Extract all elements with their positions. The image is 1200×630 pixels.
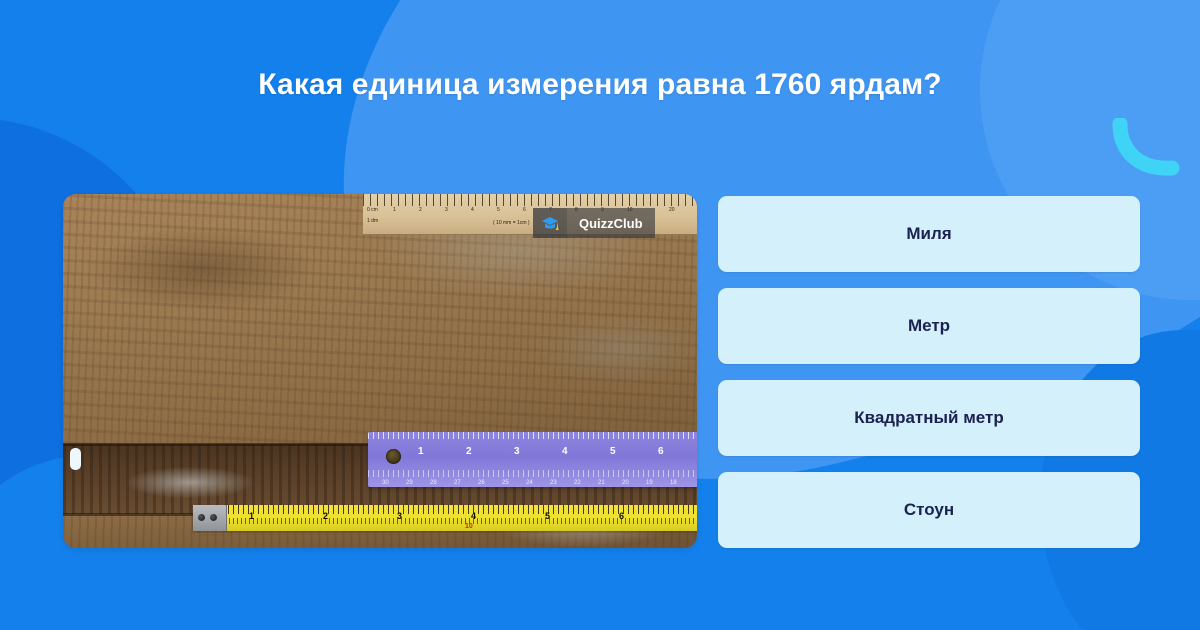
ruler-number-lower: 23 bbox=[550, 480, 557, 486]
answer-option-label: Миля bbox=[906, 224, 951, 244]
ruler-side-label: 1 dm bbox=[367, 218, 378, 224]
ruler-number-lower: 27 bbox=[454, 480, 461, 486]
purple-plastic-ruler: 1 2 3 4 5 6 30 29 28 27 26 25 24 23 22 2… bbox=[368, 432, 697, 487]
ruler-label: 1 bbox=[393, 207, 396, 213]
tape-number: 4 bbox=[471, 511, 476, 521]
watermark-badge: QuizzClub bbox=[533, 208, 655, 238]
ruler-ticks bbox=[368, 432, 697, 439]
ruler-number-lower: 20 bbox=[622, 480, 629, 486]
ruler-number-lower: 26 bbox=[478, 480, 485, 486]
tape-number: 6 bbox=[619, 511, 624, 521]
answer-option-label: Метр bbox=[908, 316, 950, 336]
tape-red-number: 10 bbox=[465, 523, 473, 530]
ruler-label: 5 bbox=[497, 207, 500, 213]
ruler-number-lower: 22 bbox=[574, 480, 581, 486]
yellow-tape-measure-upper: 1 2 3 4 5 6 10 bbox=[193, 505, 697, 531]
ruler-ticks bbox=[363, 194, 697, 206]
ruler-number: 2 bbox=[466, 446, 472, 457]
ruler-number-lower: 19 bbox=[646, 480, 653, 486]
ruler-label: 3 bbox=[445, 207, 448, 213]
scroll-indicator-nub bbox=[70, 448, 81, 470]
question-image: 0 cm 1 2 3 4 5 6 7 8 9 10 20 1 dm ( 10 m… bbox=[63, 194, 697, 548]
ruler-number: 4 bbox=[562, 446, 568, 457]
ruler-number-lower: 29 bbox=[406, 480, 413, 486]
tape-number: 3 bbox=[397, 511, 402, 521]
ruler-number-lower: 24 bbox=[526, 480, 533, 486]
ruler-label: 0 cm bbox=[367, 207, 378, 213]
ruler-number-lower: 25 bbox=[502, 480, 509, 486]
ruler-number-lower: 30 bbox=[382, 480, 389, 486]
answer-option-label: Стоун bbox=[904, 500, 954, 520]
answer-option-label: Квадратный метр bbox=[854, 408, 1004, 428]
quiz-card: Какая единица измерения равна 1760 ярдам… bbox=[0, 0, 1200, 630]
ruler-label: 4 bbox=[471, 207, 474, 213]
ruler-number: 1 bbox=[418, 446, 424, 457]
ruler-footnote: ( 10 mm = 1cm ) bbox=[493, 220, 530, 226]
ruler-label: 2 bbox=[419, 207, 422, 213]
ruler-number: 5 bbox=[610, 446, 616, 457]
ruler-label: 6 bbox=[523, 207, 526, 213]
answer-option-4[interactable]: Стоун bbox=[718, 472, 1140, 548]
answer-option-1[interactable]: Миля bbox=[718, 196, 1140, 272]
ruler-hole bbox=[386, 449, 401, 464]
page-title: Какая единица измерения равна 1760 ярдам… bbox=[0, 68, 1200, 102]
ruler-label: 20 bbox=[669, 207, 675, 213]
tape-hook bbox=[193, 505, 227, 531]
watermark-brand: QuizzClub bbox=[567, 208, 655, 238]
tape-number: 5 bbox=[545, 511, 550, 521]
graduation-cap-icon bbox=[533, 208, 567, 238]
answer-option-2[interactable]: Метр bbox=[718, 288, 1140, 364]
cyan-swoosh-icon bbox=[1112, 118, 1182, 180]
ruler-number-lower: 21 bbox=[598, 480, 605, 486]
tape-number: 1 bbox=[249, 511, 254, 521]
ruler-number: 6 bbox=[658, 446, 664, 457]
answer-list: Миля Метр Квадратный метр Стоун bbox=[718, 196, 1140, 548]
answer-option-3[interactable]: Квадратный метр bbox=[718, 380, 1140, 456]
tape-number: 2 bbox=[323, 511, 328, 521]
ruler-number-lower: 28 bbox=[430, 480, 437, 486]
ruler-number: 3 bbox=[514, 446, 520, 457]
ruler-number-lower: 18 bbox=[670, 480, 677, 486]
ruler-ticks-lower bbox=[368, 470, 697, 477]
